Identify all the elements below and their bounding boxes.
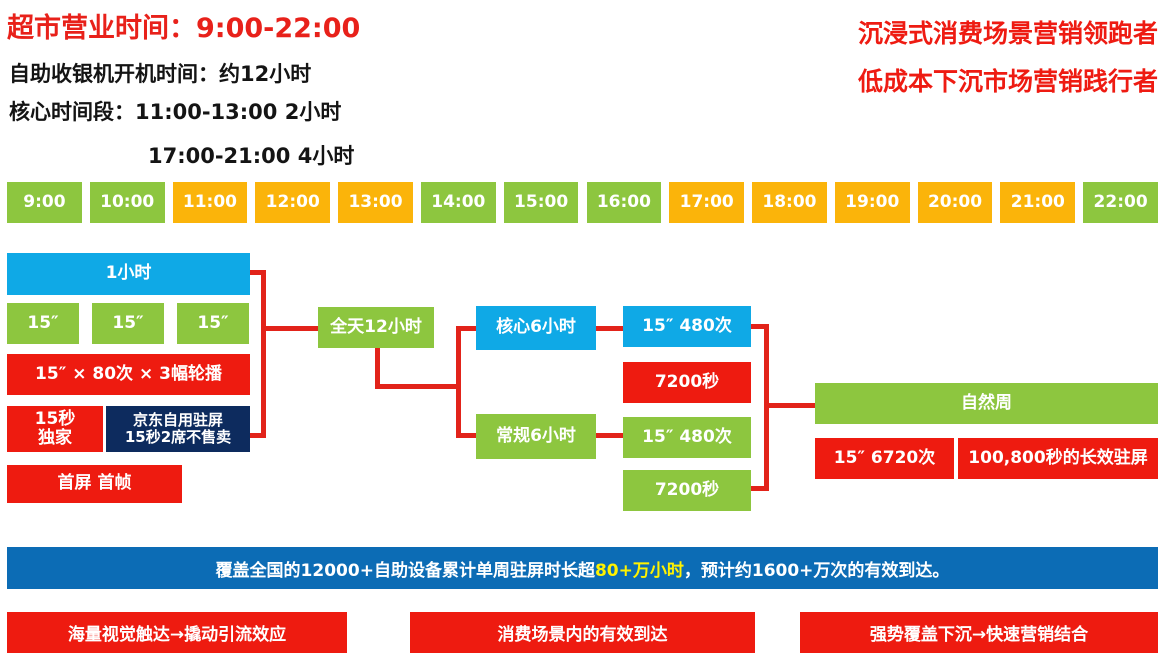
- page-title: 超市营业时间：9:00-22:00: [7, 6, 360, 45]
- box-normal-impressions: 15″ 480次: [623, 417, 751, 458]
- hour-chip-18-00: 18:00: [752, 182, 827, 223]
- hour-chip-12-00: 12:00: [255, 182, 330, 223]
- connector-split-bottom-arm: [456, 433, 478, 438]
- header-line-core-window-1: 核心时间段：11:00-13:00 2小时: [9, 96, 341, 126]
- box-rotation-formula: 15″ × 80次 × 3幅轮播: [7, 354, 250, 395]
- connector-bracket-1-stub: [261, 326, 319, 331]
- footer-bar-3: 强势覆盖下沉→快速营销结合: [800, 612, 1158, 653]
- connector-bracket-1-top-arm: [250, 270, 266, 275]
- box-slot-a: 15″: [7, 303, 79, 344]
- box-one-hour: 1小时: [7, 253, 250, 295]
- box-week-seconds: 100,800秒的长效驻屏: [958, 438, 1158, 479]
- box-slot-b: 15″: [92, 303, 164, 344]
- box-natural-week: 自然周: [815, 383, 1158, 424]
- connector-core-to-count: [596, 326, 624, 331]
- connector-bracket-3-top-arm: [750, 324, 769, 329]
- banner-text-part-1: 覆盖全国的12000+自助设备累计单周驻屏时长超: [216, 556, 595, 581]
- banner-highlight: 80+万小时: [595, 556, 684, 581]
- hour-chip-14-00: 14:00: [421, 182, 496, 223]
- hour-chip-11-00: 11:00: [173, 182, 248, 223]
- box-core-6h: 核心6小时: [476, 306, 596, 350]
- hour-chip-22-00: 22:00: [1083, 182, 1158, 223]
- box-slot-c: 15″: [177, 303, 249, 344]
- footer-bar-2: 消费场景内的有效到达: [410, 612, 755, 653]
- box-exclusive-15s: 15秒 独家: [7, 406, 103, 452]
- hour-chip-17-00: 17:00: [669, 182, 744, 223]
- connector-normal-to-count: [596, 433, 624, 438]
- box-core-impressions: 15″ 480次: [623, 306, 751, 347]
- banner-text-part-2: ，预计约1600+万次的有效到达。: [684, 556, 950, 581]
- infographic-canvas: 超市营业时间：9:00-22:00 自助收银机开机时间：约12小时 核心时间段：…: [0, 0, 1165, 656]
- box-jd-reserved-slot: 京东自用驻屏 15秒2席不售卖: [106, 406, 250, 452]
- hour-chip-21-00: 21:00: [1000, 182, 1075, 223]
- box-normal-6h: 常规6小时: [476, 414, 596, 459]
- box-week-impressions: 15″ 6720次: [815, 438, 954, 479]
- connector-split-top-arm: [456, 326, 478, 331]
- connector-split-vertical: [456, 326, 461, 438]
- connector-allday-drop: [375, 348, 380, 386]
- connector-bracket-1-bottom-arm: [250, 433, 266, 438]
- exclusive-line-2: 独家: [38, 429, 72, 448]
- box-first-screen-first-frame: 首屏 首帧: [7, 465, 182, 503]
- hour-chip-20-00: 20:00: [918, 182, 993, 223]
- header-line-core-window-2: 17:00-21:00 4小时: [148, 140, 354, 170]
- jd-line-2: 15秒2席不售卖: [125, 429, 231, 446]
- exclusive-line-1: 15秒: [35, 410, 76, 429]
- connector-allday-run: [375, 384, 460, 389]
- box-normal-seconds: 7200秒: [623, 470, 751, 511]
- slogan-secondary: 低成本下沉市场营销践行者: [858, 62, 1158, 98]
- slogan-primary: 沉浸式消费场景营销领跑者: [858, 14, 1158, 50]
- footer-bar-1: 海量视觉触达→撬动引流效应: [7, 612, 347, 653]
- hour-chip-15-00: 15:00: [504, 182, 579, 223]
- hour-chip-10-00: 10:00: [90, 182, 165, 223]
- jd-line-1: 京东自用驻屏: [133, 412, 223, 429]
- connector-bracket-1-vertical: [261, 270, 266, 438]
- connector-bracket-3-stub: [764, 403, 816, 408]
- connector-bracket-3-bottom-arm: [750, 486, 769, 491]
- box-core-seconds: 7200秒: [623, 362, 751, 403]
- summary-banner: 覆盖全国的12000+自助设备累计单周驻屏时长超 80+万小时 ，预计约1600…: [7, 547, 1158, 589]
- hour-chip-16-00: 16:00: [587, 182, 662, 223]
- header-line-open-hours: 自助收银机开机时间：约12小时: [9, 58, 311, 88]
- box-all-day-12h: 全天12小时: [318, 307, 434, 348]
- hour-chip-9-00: 9:00: [7, 182, 82, 223]
- hour-chip-13-00: 13:00: [338, 182, 413, 223]
- hour-chip-19-00: 19:00: [835, 182, 910, 223]
